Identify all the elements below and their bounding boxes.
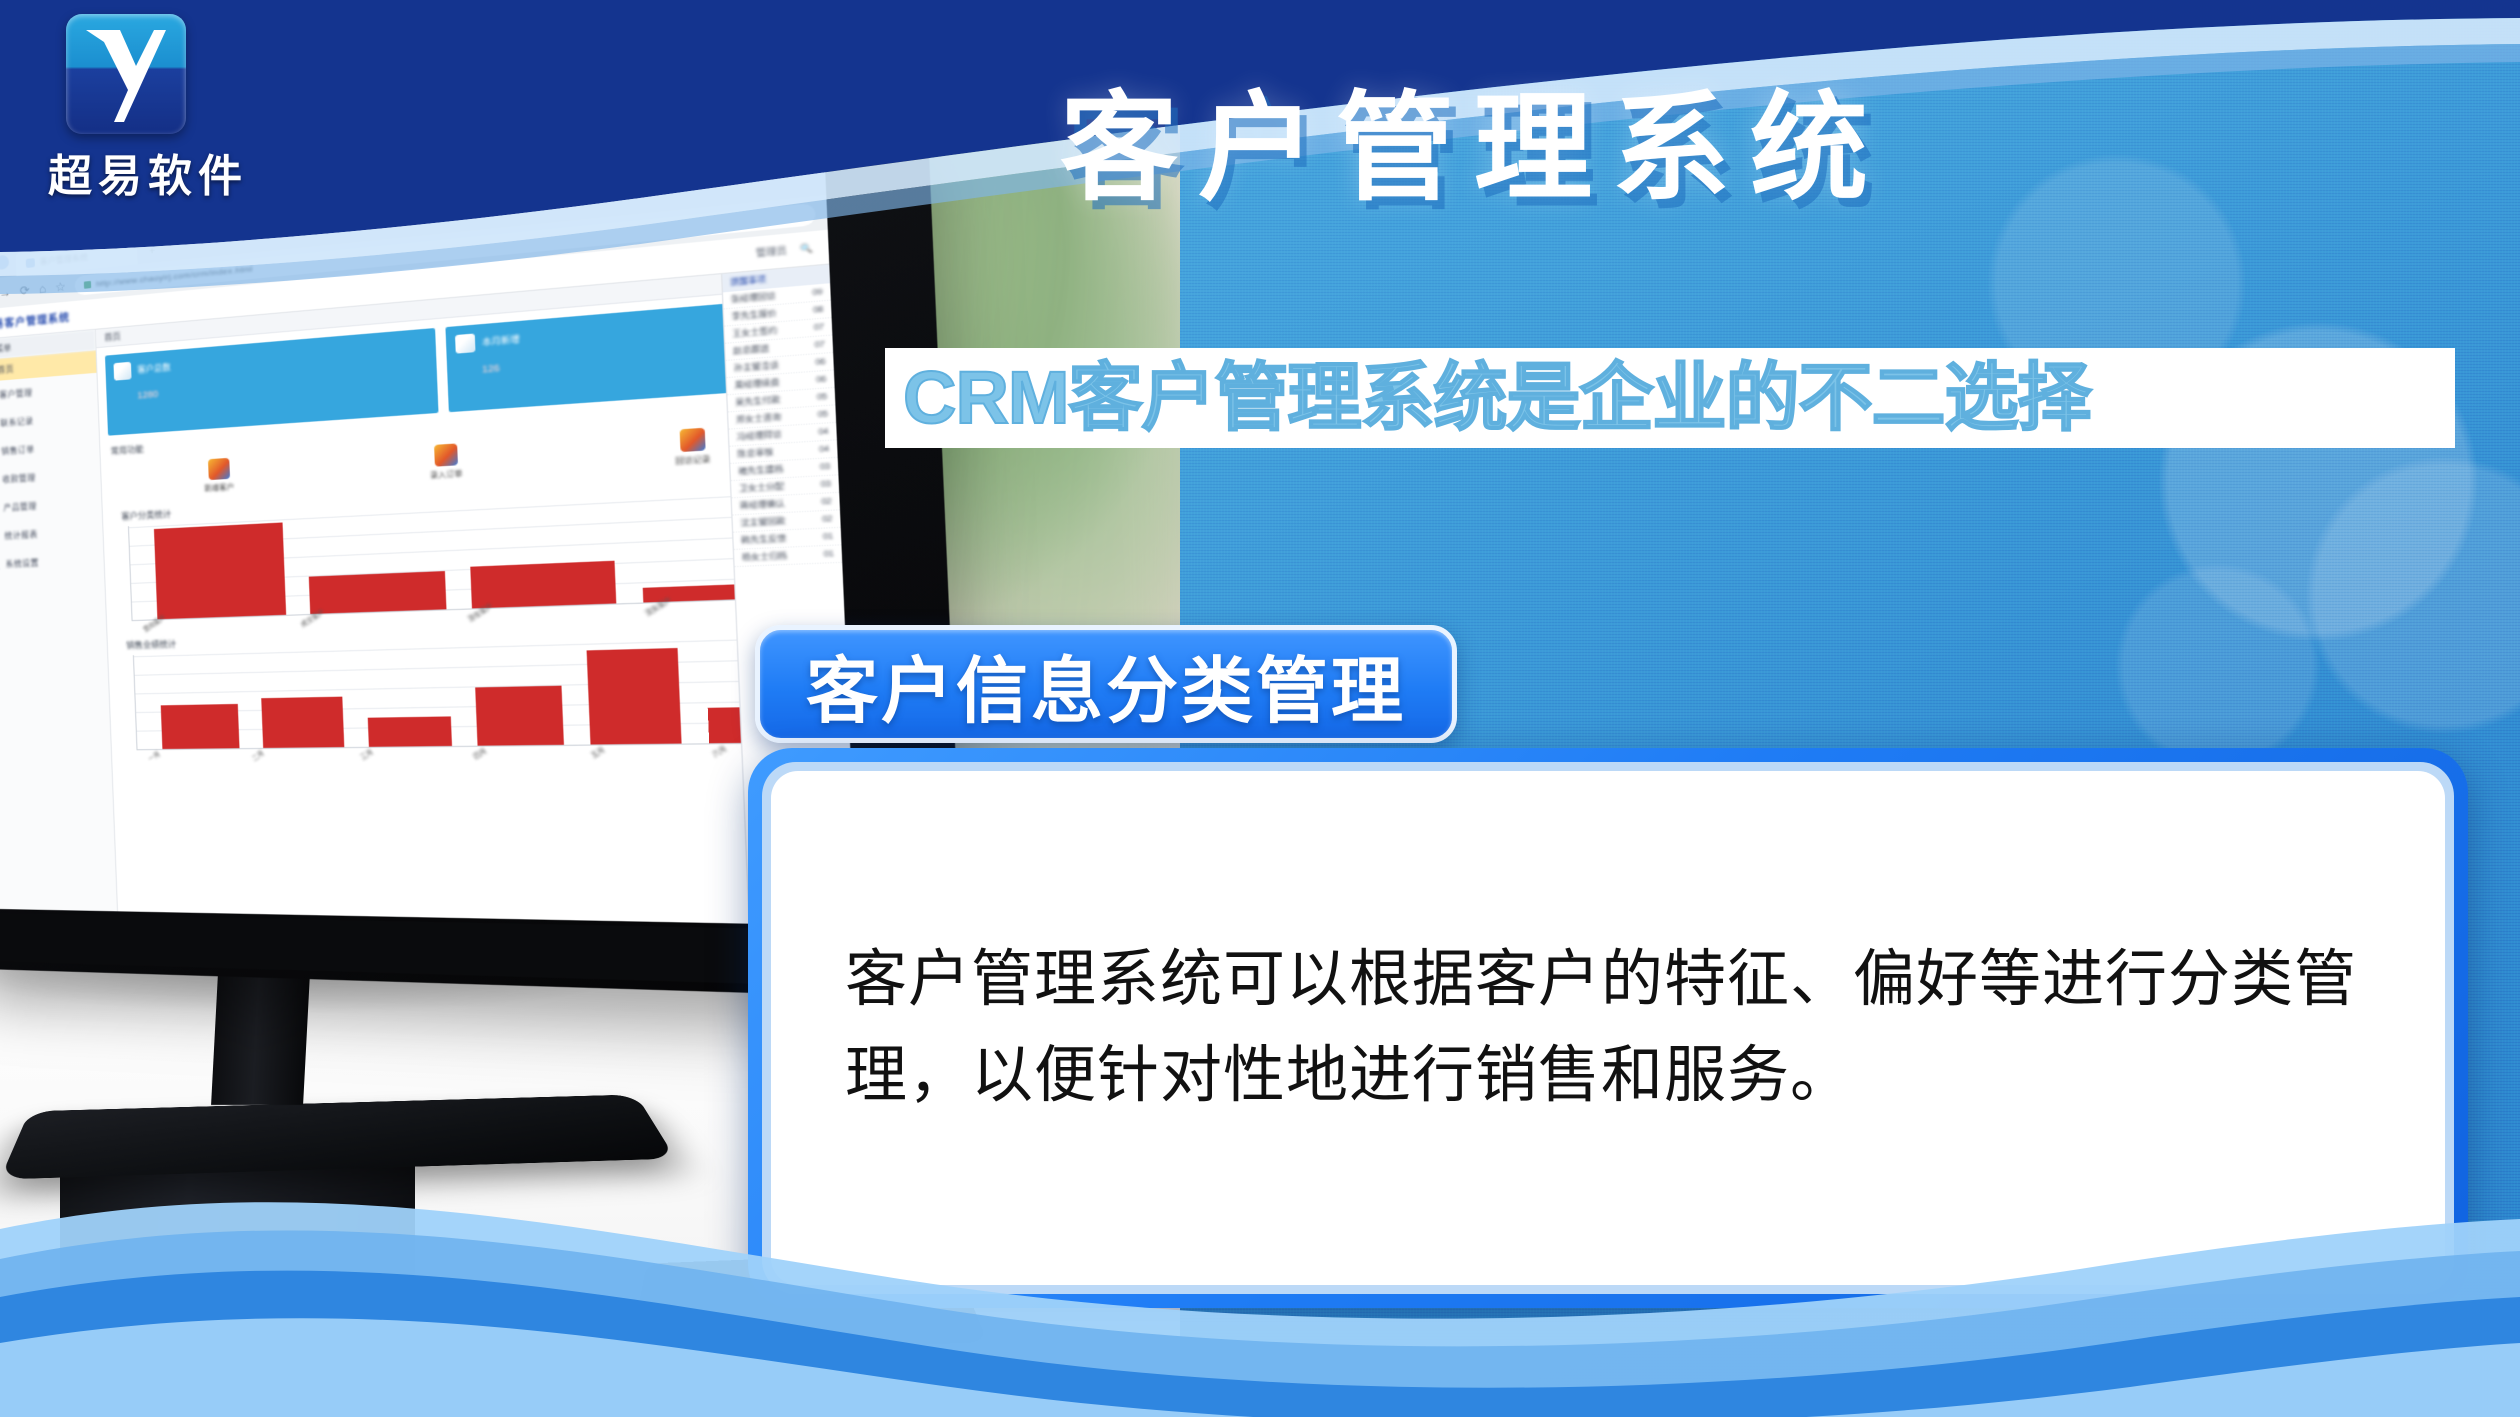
bar-chart-2: [133, 636, 834, 751]
stat-card-label: 本月新增: [482, 333, 520, 348]
arrow-right-icon[interactable]: →: [0, 285, 11, 300]
sidebar-item-label: 销售订单: [1, 443, 35, 456]
new-tab-icon[interactable]: +: [149, 246, 155, 263]
search-icon[interactable]: 🔍: [800, 243, 813, 255]
reminder-name: 赵总跟进: [733, 343, 769, 357]
reminder-count: 03: [821, 480, 832, 489]
stat-card-label: 客户总数: [137, 362, 171, 376]
reminder-count: 09: [812, 288, 823, 297]
extension-icon[interactable]: [0, 255, 9, 270]
reminder-count: 03: [820, 462, 831, 471]
reminder-name: 韩先生反馈: [741, 533, 786, 547]
quick-action-label: 录入订单: [430, 468, 463, 481]
reminder-count: 02: [821, 497, 832, 506]
stat-card[interactable]: 客户总数 1280: [105, 328, 439, 436]
reminder-count: 02: [822, 515, 833, 524]
sidebar-item-label: 收款管理: [2, 472, 36, 485]
sidebar-item-label: 统计报表: [4, 528, 38, 541]
reminder-name: 陈总审核: [737, 447, 773, 461]
brand-logo[interactable]: 超易软件: [48, 14, 248, 204]
section-body-text: 客户管理系统可以根据客户的特征、偏好等进行分类管理，以便针对性地进行销售和服务。: [845, 932, 2371, 1124]
star-icon[interactable]: ☆: [55, 279, 66, 294]
stat-icon: [113, 362, 131, 381]
reminder-name: 冯经理拜访: [737, 429, 782, 443]
reminder-name: 郑女士咨询: [736, 411, 781, 425]
subtitle-text: CRM客户管理系统是企业的不二选择: [885, 348, 2455, 448]
y-glyph: [80, 22, 172, 126]
reminder-name: 褚先生建档: [738, 463, 783, 477]
reminder-panel-title: 提醒事项: [730, 274, 766, 289]
quick-action[interactable]: 录入订单: [429, 443, 463, 481]
reminder-name: 杨女士归档: [742, 550, 787, 563]
monitor-screen: 客户管理系统 + ← → ⟳ ⌂ ☆ http://www.chaoyirj.: [0, 155, 858, 925]
breadcrumb-label: 首页: [104, 331, 121, 344]
reminder-name: 卫女士分配: [739, 481, 784, 495]
app-main: 首页 客户总数 1280 本月新增 126: [96, 265, 858, 926]
brand-name: 超易软件: [48, 140, 248, 204]
home-icon[interactable]: ⌂: [39, 281, 47, 296]
reminder-name: 周经理续费: [734, 377, 779, 392]
reminder-name: 张经理回访: [731, 290, 776, 305]
chart-bars: [134, 636, 834, 749]
reminder-row[interactable]: 杨女士归档01: [734, 545, 842, 567]
app-user: 管理员: [756, 244, 787, 260]
subtitle-bar: CRM客户管理系统是企业的不二选择: [885, 348, 2455, 448]
quick-action-label: 新增客户: [204, 482, 234, 494]
app-body: 功能菜单 首页 客户管理 联系记录 销售订单 收款管理 产品管理 统计报表 系: [0, 265, 858, 926]
reminder-count: 05: [817, 410, 828, 419]
footer-waves: [0, 1147, 2520, 1417]
url-text: http://www.chaoyirj.com/crm/index.html: [96, 264, 253, 289]
stat-icon: [455, 333, 475, 353]
sidebar-item[interactable]: 系统设置: [0, 545, 104, 579]
chart-x-labels: 一月二月三月四月五月六月: [120, 748, 840, 765]
reminder-name: 蒋经理确认: [740, 498, 785, 512]
quick-action[interactable]: 回访记录: [674, 427, 711, 467]
app-header-right: 管理员 🔍: [756, 242, 813, 260]
sidebar-item-label: 系统设置: [5, 557, 39, 570]
reminder-count: 07: [814, 323, 825, 332]
quick-action-label: 回访记录: [675, 454, 711, 467]
reminder-name: 李先生报价: [731, 308, 776, 323]
reminder-count: 06: [816, 375, 827, 384]
y-logo-icon: [66, 14, 186, 134]
reminder-count: 06: [815, 358, 826, 367]
lock-icon: [84, 280, 91, 288]
quick-action-icon: [433, 443, 457, 466]
quick-action[interactable]: 新增客户: [203, 458, 234, 494]
quick-action-icon: [207, 458, 229, 480]
reminder-count: 01: [823, 532, 834, 541]
sidebar-selected-label: 首页: [0, 363, 14, 375]
reminder-name: 吴先生付款: [735, 394, 780, 409]
poster-canvas: 客户管理系统 + ← → ⟳ ⌂ ☆ http://www.chaoyirj.: [0, 0, 2520, 1417]
sidebar-item-label: 联系记录: [0, 415, 34, 429]
reload-icon[interactable]: ⟳: [20, 283, 30, 298]
reminder-list: 张经理回访09李先生报价08王女士签约07赵总跟进07孙主管洽谈06周经理续费0…: [723, 283, 842, 567]
reminder-count: 07: [814, 340, 825, 349]
reminder-count: 05: [817, 393, 828, 402]
section-heading-text: 客户信息分类管理: [806, 632, 1406, 737]
reminder-count: 01: [824, 550, 835, 559]
reminder-count: 04: [819, 445, 830, 454]
reminder-name: 孙主管洽谈: [734, 359, 779, 374]
sidebar-item-label: 产品管理: [3, 500, 37, 513]
page-title: 客户管理系统: [1060, 88, 2390, 212]
quick-action-icon: [679, 428, 705, 452]
sidebar-item-label: 客户管理: [0, 387, 33, 401]
browser-window: 客户管理系统 + ← → ⟳ ⌂ ☆ http://www.chaoyirj.: [0, 155, 858, 925]
reminder-count: 04: [818, 427, 829, 436]
reminder-name: 沈主管回款: [740, 515, 785, 529]
reminder-count: 08: [813, 305, 824, 314]
app-title: 超易客户管理系统: [0, 309, 70, 332]
tab-favicon: [26, 258, 35, 268]
tab-label: 客户管理系统: [40, 251, 89, 267]
section-heading-pill: 客户信息分类管理: [755, 625, 1457, 743]
reminder-name: 王女士签约: [732, 325, 777, 340]
chart-bar: [475, 686, 564, 746]
